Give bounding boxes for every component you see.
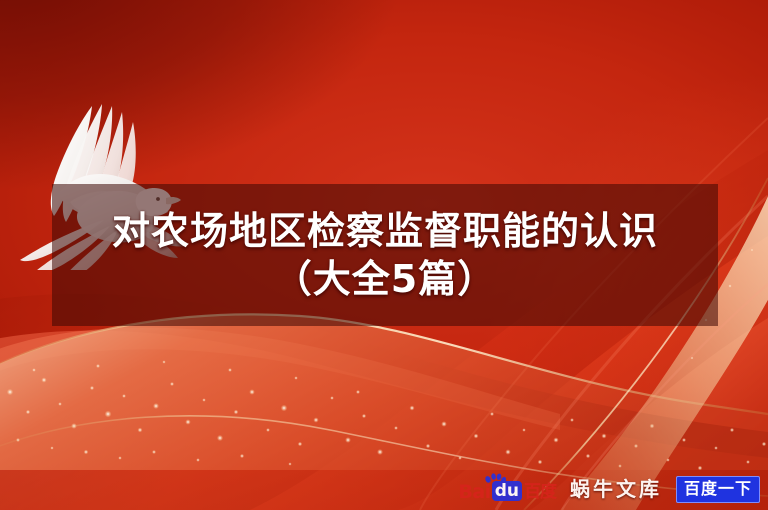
baidu-logo-chinese: 百度 xyxy=(524,483,556,502)
baidu-logo-bai: Bai xyxy=(458,482,490,502)
paw-print-icon xyxy=(484,473,506,485)
title-overlay-band: 对农场地区检察监督职能的认识 （大全5篇） xyxy=(52,184,718,326)
page-title-line-2: （大全5篇） xyxy=(274,255,496,303)
footer-watermark: Bai du 百度 蜗牛文库 百度一下 xyxy=(0,472,768,506)
cover-image: 对农场地区检察监督职能的认识 （大全5篇） Bai du 百度 蜗牛文库 百度一… xyxy=(0,0,768,510)
baidu-logo[interactable]: Bai du 百度 xyxy=(458,476,556,502)
site-name-watermark: 蜗牛文库 xyxy=(570,478,662,500)
page-title-line-1: 对农场地区检察监督职能的认识 xyxy=(112,207,658,255)
baidu-search-button[interactable]: 百度一下 xyxy=(676,476,760,503)
